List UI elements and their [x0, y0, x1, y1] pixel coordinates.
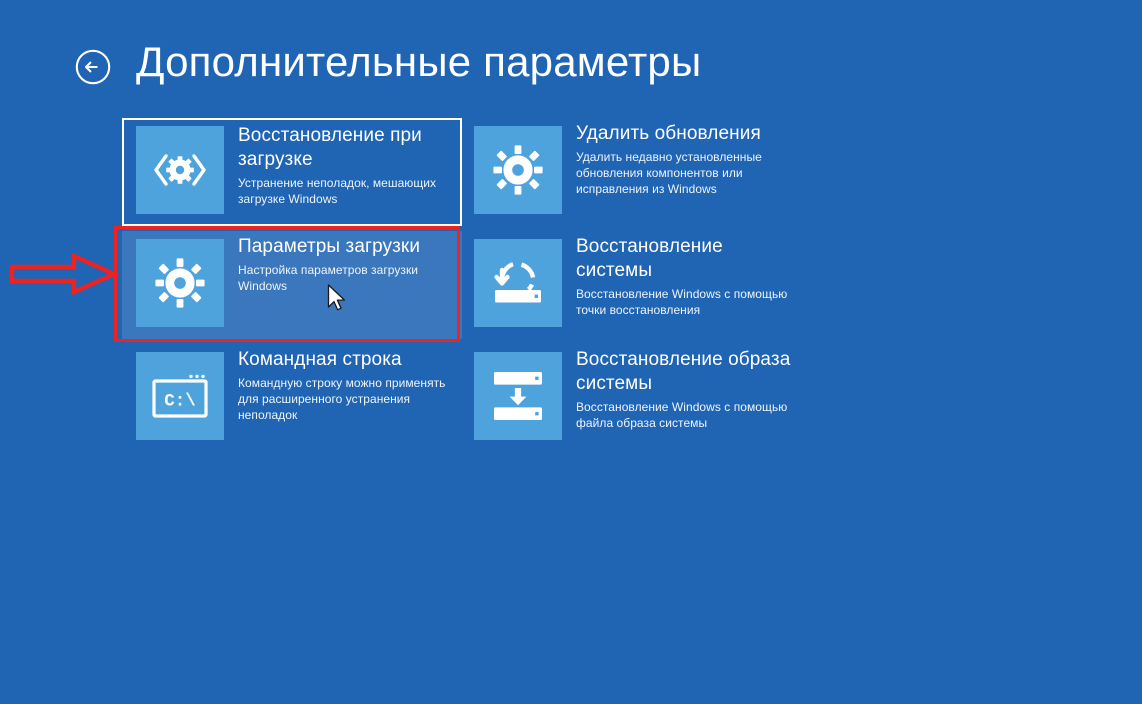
drive-image-download-icon	[474, 352, 562, 440]
tile-title: Восстановление при загрузке	[238, 124, 456, 172]
svg-text:C:\: C:\	[164, 392, 196, 412]
tile-description: Восстановление Windows с помощью точки в…	[576, 286, 796, 318]
gear-in-brackets-icon	[136, 126, 224, 214]
console-window-icon: C:\	[136, 352, 224, 440]
tile-title: Удалить обновления	[576, 122, 796, 146]
tile-text: Восстановление при загрузке Устранение н…	[238, 124, 460, 207]
tile-text: Параметры загрузки Настройка параметров …	[238, 235, 462, 294]
gear-icon	[136, 239, 224, 327]
tile-system-restore[interactable]: Восстановление системы Восстановление Wi…	[460, 231, 800, 339]
tile-text: Восстановление системы Восстановление Wi…	[576, 235, 800, 318]
drive-restore-icon	[474, 239, 562, 327]
tile-description: Устранение неполадок, мешающих загрузке …	[238, 175, 456, 207]
gear-icon	[474, 126, 562, 214]
tile-description: Восстановление Windows с помощью файла о…	[576, 399, 796, 431]
tile-description: Настройка параметров загрузки Windows	[238, 262, 458, 294]
tile-text: Командная строка Командную строку можно …	[238, 348, 462, 423]
tile-startup-settings[interactable]: Параметры загрузки Настройка параметров …	[122, 231, 462, 339]
tile-startup-repair[interactable]: Восстановление при загрузке Устранение н…	[122, 118, 462, 226]
tile-title: Командная строка	[238, 348, 458, 372]
tile-command-prompt[interactable]: C:\ Командная строка Командную строку мо…	[122, 344, 462, 452]
tile-title: Параметры загрузки	[238, 235, 458, 259]
tile-description: Удалить недавно установленные обновления…	[576, 149, 796, 197]
options-grid: Восстановление при загрузке Устранение н…	[0, 0, 1142, 704]
tile-title: Восстановление образа системы	[576, 348, 796, 396]
tile-description: Командную строку можно применять для рас…	[238, 375, 458, 423]
tile-text: Восстановление образа системы Восстановл…	[576, 348, 800, 431]
tile-text: Удалить обновления Удалить недавно устан…	[576, 122, 800, 197]
tile-title: Восстановление системы	[576, 235, 796, 283]
tile-system-image-recovery[interactable]: Восстановление образа системы Восстановл…	[460, 344, 800, 452]
tile-uninstall-updates[interactable]: Удалить обновления Удалить недавно устан…	[460, 118, 800, 226]
